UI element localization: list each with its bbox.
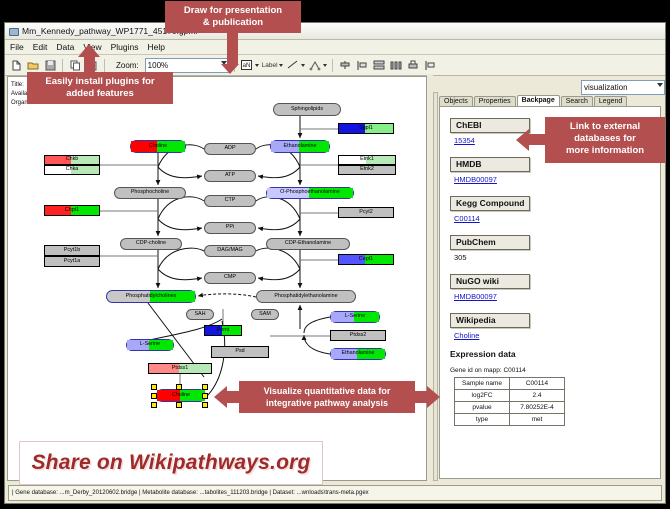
table-row: Sample name C00114 (455, 378, 565, 390)
metabolite-node[interactable]: Phosphatidylethanolamine (256, 290, 356, 303)
node-label: Cept1 (359, 257, 373, 262)
backpage-link-nugo[interactable]: HMDB00097 (454, 292, 660, 301)
callout-links-line3: more information (551, 145, 659, 157)
node-label: SAM (259, 312, 271, 317)
align-center-icon[interactable] (338, 58, 352, 72)
tab-properties[interactable]: Properties (474, 96, 516, 106)
callout-share-text: Share on Wikipathways.org (31, 451, 310, 475)
toolbar-separator (104, 59, 105, 72)
node-label: O-Phosphoethanolamine (280, 190, 340, 195)
menu-item-plugins[interactable]: Plugins (111, 42, 139, 52)
node-label: Chpt1 (65, 208, 79, 213)
callout-draw-line2: & publication (171, 17, 295, 29)
shape-icon[interactable] (308, 58, 322, 72)
gene-node[interactable]: Psd (211, 346, 269, 358)
node-label: ATP (225, 173, 235, 178)
metabolite-node[interactable]: Choline (130, 140, 186, 153)
selection-handle-ne[interactable] (202, 384, 208, 390)
table-row: pvalue 7.80252E-4 (455, 402, 565, 414)
node-label: Ethanolamine (342, 351, 375, 356)
metabolite-node[interactable]: CDP-choline (120, 238, 182, 250)
chevron-down-icon (279, 64, 283, 67)
table-row: log2FC 2.4 (455, 390, 565, 402)
node-label: Pcyt1a (64, 259, 80, 264)
backpage-header-wikipedia: Wikipedia (450, 313, 530, 328)
metabolite-node[interactable]: Ethanolamine (330, 348, 386, 360)
metabolite-node[interactable]: Sphingolipids (273, 103, 341, 116)
gene-node[interactable]: Etnk2 (338, 165, 396, 175)
backpage-value-pubchem: 305 (454, 253, 660, 262)
callout-links: Link to external databases for more info… (545, 117, 665, 163)
callout-visualize-stem-right (413, 391, 427, 403)
gene-node[interactable]: Pemt (204, 325, 242, 336)
node-label: Psd (235, 349, 244, 354)
callout-links-line2: databases for (551, 133, 659, 145)
node-label: Chkb (66, 157, 79, 162)
callout-plugins-stem (84, 57, 95, 73)
metabolite-node[interactable]: ATP (204, 170, 256, 182)
metabolite-node[interactable]: ADP (204, 143, 256, 155)
tab-search[interactable]: Search (561, 96, 593, 106)
node-label: Etnk2 (360, 167, 374, 172)
gene-node[interactable]: Chpt1 (44, 205, 100, 216)
gene-node[interactable]: Sgpl1 (338, 123, 394, 134)
pathvisio-window: Mm_Kennedy_pathway_WP1771_45176.gpml Fil… (4, 22, 666, 504)
zoom-label: Zoom: (116, 61, 139, 70)
node-label: DAG/MAG (217, 248, 242, 253)
node-label: Sgpl1 (359, 126, 373, 131)
metabolite-node[interactable]: CTP (204, 195, 256, 207)
menu-item-edit[interactable]: Edit (33, 42, 48, 52)
node-label: Phosphatidylcholines (126, 294, 177, 299)
menu-item-data[interactable]: Data (56, 42, 74, 52)
callout-links-arrowhead (516, 129, 529, 151)
backpage-link-hmdb[interactable]: HMDB00097 (454, 175, 660, 184)
callout-visualize: Visualize quantitative data for integrat… (239, 381, 415, 413)
backpage-header-nugo: NuGO wiki (450, 274, 530, 289)
backpage-header-kegg: Kegg Compound (450, 196, 530, 211)
backpage-entry-nugo: NuGO wiki HMDB00097 (450, 271, 660, 301)
pathway-canvas[interactable]: Title: Availa Organi (7, 76, 427, 481)
node-label: Etnk1 (360, 157, 374, 162)
copy-icon[interactable] (68, 58, 82, 72)
cell-log2fc-key: log2FC (455, 390, 510, 402)
callout-share: Share on Wikipathways.org (19, 441, 323, 485)
expression-data-table: Sample name C00114 log2FC 2.4 pvalue 7.8… (454, 377, 565, 426)
backpage-header-hmdb: HMDB (450, 157, 530, 172)
gene-node[interactable]: Chka (44, 165, 100, 175)
backpage-entry-kegg: Kegg Compound C00114 (450, 193, 660, 223)
chevron-down-icon (255, 64, 259, 67)
selection-handle-e[interactable] (202, 393, 208, 399)
side-panel-scrollbar[interactable] (433, 92, 438, 481)
callout-visualize-arrowhead-right (427, 386, 440, 408)
title-bar: Mm_Kennedy_pathway_WP1771_45176.gpml (5, 23, 665, 40)
gene-node[interactable]: Pcyt2 (338, 207, 394, 218)
callout-draw-stem (227, 33, 238, 65)
status-bar: | Gene database: ...m_Derby_20120602.bri… (5, 483, 665, 503)
datanode-dropdown[interactable]: aN (240, 58, 259, 72)
node-label: CMP (224, 275, 236, 280)
callout-plugins-line2: added features (33, 88, 167, 100)
node-label: Ptdss2 (350, 333, 366, 338)
metabolite-node[interactable]: Phosphocholine (114, 187, 186, 199)
cell-type-key: type (455, 414, 510, 426)
tab-backpage[interactable]: Backpage (517, 95, 560, 106)
gene-id-line: Gene id on mapp: C00114 (450, 367, 660, 374)
tab-objects[interactable]: Objects (439, 96, 473, 106)
table-row: type met (455, 414, 565, 426)
zoom-value: 100% (148, 61, 168, 70)
cell-type-value: met (510, 414, 565, 426)
callout-visualize-line1: Visualize quantitative data for (245, 385, 409, 397)
backpage-header-pubchem: PubChem (450, 235, 530, 250)
tab-legend[interactable]: Legend (594, 96, 627, 106)
node-label: L-Serine (345, 314, 365, 319)
backpage-entry-pubchem: PubChem 305 (450, 232, 660, 262)
print-icon[interactable] (406, 58, 420, 72)
datanode-icon[interactable]: aN (240, 58, 254, 72)
callout-visualize-arrowhead-left (214, 386, 227, 408)
metabolite-node[interactable]: CDP-Ethanolamine (266, 238, 350, 250)
callout-visualize-line2: integrative pathway analysis (245, 397, 409, 409)
backpage-entry-wikipedia: Wikipedia Choline (450, 310, 660, 340)
node-label: Ptdss1 (172, 366, 188, 371)
order-icon[interactable] (423, 58, 437, 72)
gene-node[interactable]: Ptdss2 (330, 330, 386, 341)
node-label: Ethanolamine (284, 144, 317, 149)
zoom-combo[interactable]: 100% (145, 58, 229, 73)
selection-handle-sw[interactable] (151, 402, 157, 408)
gene-node[interactable]: Pcyt1b (44, 245, 100, 256)
cell-sample-name-key: Sample name (455, 378, 510, 390)
metabolite-node[interactable]: Ethanolamine (270, 140, 330, 153)
node-label: Choline (149, 144, 167, 149)
cell-sample-name-value: C00114 (510, 378, 565, 390)
node-label: CDP-Ethanolamine (285, 241, 331, 246)
gene-node[interactable]: Etnk1 (338, 155, 396, 165)
callout-draw-line1: Draw for presentation (171, 5, 295, 17)
distribute-icon[interactable] (389, 58, 403, 72)
selection-handle-nw[interactable] (151, 384, 157, 390)
node-label: Sphingolipids (291, 107, 323, 112)
gene-node[interactable]: Pcyt1a (44, 256, 100, 267)
shape-tool-dropdown[interactable] (308, 58, 327, 72)
backpage-link-wikipedia[interactable]: Choline (454, 331, 660, 340)
cell-pvalue-key: pvalue (455, 402, 510, 414)
menu-bar: File Edit Data View Plugins Help (5, 40, 665, 55)
node-label: PPi (226, 225, 234, 230)
metabolite-node[interactable]: CMP (204, 272, 256, 284)
callout-plugins-line1: Easily install plugins for (33, 76, 167, 88)
node-label: Pemt (217, 328, 230, 333)
label-dropdown-text: Label (262, 62, 278, 69)
metabolite-node[interactable]: L-Serine (330, 311, 380, 323)
svg-text:aN: aN (243, 63, 251, 69)
metabolite-node[interactable]: SAM (251, 309, 279, 320)
cell-pvalue-value: 7.80252E-4 (510, 402, 565, 414)
selection-handle-se[interactable] (202, 402, 208, 408)
metabolite-node[interactable]: Phosphatidylcholines (106, 290, 196, 303)
selection-handle-s[interactable] (176, 402, 182, 408)
metabolite-node[interactable]: PPi (204, 222, 256, 234)
callout-plugins-arrowhead (78, 44, 100, 57)
open-folder-icon[interactable] (26, 58, 40, 72)
metabolite-node[interactable]: SAH (186, 309, 214, 320)
toolbar-separator (62, 59, 63, 72)
backpage-link-kegg[interactable]: C00114 (454, 214, 660, 223)
gene-node[interactable]: Cept1 (338, 254, 394, 265)
save-icon[interactable] (43, 58, 57, 72)
node-label: CDP-choline (136, 241, 166, 246)
callout-links-line1: Link to external (551, 121, 659, 133)
gene-node[interactable]: Chkb (44, 155, 100, 165)
node-label: SAH (194, 312, 205, 317)
side-panel-tabs: Objects Properties Backpage Search Legen… (439, 94, 661, 106)
menu-item-help[interactable]: Help (148, 42, 165, 52)
callout-draw-arrowhead (221, 64, 239, 74)
metabolite-node[interactable]: Choline (156, 389, 206, 402)
node-label: CTP (225, 198, 236, 203)
align-left-icon[interactable] (355, 58, 369, 72)
node-label: Pcyt1b (64, 248, 80, 253)
expression-data-title: Expression data (450, 349, 660, 359)
toolbar-separator (332, 59, 333, 72)
new-file-icon[interactable] (9, 58, 23, 72)
metabolite-node[interactable]: L-Serine (126, 339, 174, 351)
chevron-down-icon (323, 64, 327, 67)
cell-log2fc-value: 2.4 (510, 390, 565, 402)
node-label: Chka (66, 167, 79, 172)
node-label: Phosphatidylethanolamine (274, 294, 337, 299)
node-label: L-Serine (140, 342, 160, 347)
node-label: Phosphocholine (131, 190, 169, 195)
selection-handle-w[interactable] (151, 393, 157, 399)
menu-item-file[interactable]: File (10, 42, 24, 52)
status-text: | Gene database: ...m_Derby_20120602.bri… (8, 485, 662, 501)
metabolite-node[interactable]: DAG/MAG (204, 245, 256, 257)
node-label: Pcyt2 (359, 210, 372, 215)
label-dropdown[interactable]: Label (262, 62, 283, 69)
app-icon (8, 26, 18, 36)
gene-node[interactable]: Ptdss1 (148, 363, 212, 374)
line-icon[interactable] (286, 58, 300, 72)
callout-draw: Draw for presentation & publication (165, 1, 301, 33)
metabolite-node[interactable]: O-Phosphoethanolamine (266, 187, 354, 199)
node-label: ADP (224, 146, 235, 151)
callout-plugins: Easily install plugins for added feature… (27, 72, 173, 104)
chevron-down-icon (301, 64, 305, 67)
stack-icon[interactable] (372, 58, 386, 72)
node-label: Choline (172, 393, 190, 398)
selection-handle-n[interactable] (176, 384, 182, 390)
line-tool-dropdown[interactable] (286, 58, 305, 72)
